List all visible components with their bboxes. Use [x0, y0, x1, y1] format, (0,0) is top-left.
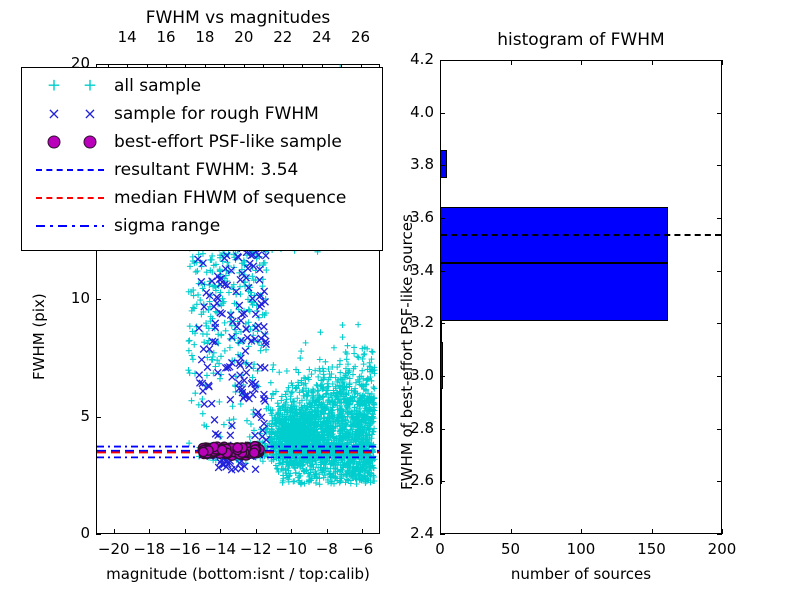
tick-mark — [717, 376, 722, 377]
right-panel-y-axis-label: FWHM of best-effort PSF-like sources — [398, 214, 416, 490]
left-panel-title: FWHM vs magnitudes — [96, 8, 380, 28]
tick-mark — [440, 323, 445, 324]
hist-x-tick-label: 150 — [630, 540, 674, 558]
tick-mark — [440, 218, 445, 219]
legend-sample-marker — [48, 136, 61, 149]
legend-marker-dashed-line-icon — [28, 156, 114, 184]
tick-mark — [717, 271, 722, 272]
legend-entry: best-effort PSF-like sample — [28, 128, 376, 156]
legend-entry-label: sample for rough FWHM — [114, 104, 319, 124]
tick-mark — [717, 165, 722, 166]
legend-line-swatch — [36, 169, 104, 171]
hist-x-tick-label: 50 — [489, 540, 533, 558]
tick-mark — [440, 534, 445, 535]
legend-marker-dashdot-line-icon — [28, 212, 114, 240]
tick-mark — [327, 529, 328, 534]
legend-entry: median FHWM of sequence — [28, 184, 376, 212]
tick-mark — [220, 529, 221, 534]
left-panel-y-axis-label: FWHM (pix) — [30, 293, 48, 380]
top-axis-tick-label: 14 — [107, 28, 147, 46]
tick-mark — [722, 60, 723, 65]
plot-legend: ++all sample××sample for rough FWHMbest-… — [21, 67, 383, 251]
tick-mark — [722, 529, 723, 534]
tick-mark — [114, 529, 115, 534]
hist-y-tick-label: 4.0 — [388, 103, 434, 121]
legend-line-swatch — [36, 225, 104, 227]
top-axis-tick-label: 24 — [302, 28, 342, 46]
tick-mark — [717, 113, 722, 114]
hist-x-tick-label: 200 — [700, 540, 744, 558]
tick-mark — [96, 417, 101, 418]
y-axis-tick-label: 0 — [46, 524, 90, 542]
tick-mark — [362, 529, 363, 534]
tick-mark — [440, 429, 445, 430]
tick-mark — [440, 481, 445, 482]
top-axis-tick-label: 26 — [341, 28, 381, 46]
legend-marker-cross-icon: ×× — [28, 100, 114, 128]
top-axis-tick-label: 22 — [263, 28, 303, 46]
tick-mark — [440, 60, 441, 65]
legend-sample-marker: + — [47, 78, 61, 95]
legend-marker-plus-icon: ++ — [28, 72, 114, 100]
hist-x-tick-label: 0 — [418, 540, 462, 558]
tick-mark — [149, 529, 150, 534]
legend-entry: ××sample for rough FWHM — [28, 100, 376, 128]
legend-entry: resultant FWHM: 3.54 — [28, 156, 376, 184]
histogram-bar — [440, 150, 447, 179]
legend-entry: ++all sample — [28, 72, 376, 100]
tick-mark — [185, 529, 186, 534]
y-axis-tick-label: 5 — [46, 407, 90, 425]
legend-entry-label: all sample — [114, 76, 201, 96]
top-axis-tick-label: 18 — [185, 28, 225, 46]
tick-mark — [440, 271, 445, 272]
resultant-fwhm-reference-line — [441, 234, 721, 236]
tick-mark — [511, 60, 512, 65]
figure-canvas: FWHM vs magnitudes 14161820222426 051020… — [0, 0, 800, 600]
histogram-bar — [440, 342, 443, 389]
tick-mark — [256, 529, 257, 534]
legend-marker-dot-icon — [28, 128, 114, 156]
tick-mark — [511, 529, 512, 534]
histogram-bar — [440, 437, 442, 484]
top-axis-tick-label: 20 — [224, 28, 264, 46]
legend-marker-dashed-line-icon — [28, 184, 114, 212]
hist-x-tick-label: 100 — [559, 540, 603, 558]
tick-mark — [440, 376, 445, 377]
right-panel-title: histogram of FWHM — [440, 30, 722, 50]
tick-mark — [652, 60, 653, 65]
tick-mark — [652, 529, 653, 534]
tick-mark — [717, 429, 722, 430]
legend-sample-marker: × — [83, 106, 96, 122]
legend-entry-label: sigma range — [114, 216, 220, 236]
tick-mark — [440, 165, 445, 166]
legend-line-swatch — [36, 197, 104, 199]
tick-mark — [96, 64, 101, 65]
legend-entry: sigma range — [28, 212, 376, 240]
tick-mark — [96, 534, 101, 535]
tick-mark — [717, 323, 722, 324]
y-axis-tick-label: 10 — [46, 289, 90, 307]
histogram-bar — [440, 263, 668, 321]
tick-mark — [581, 529, 582, 534]
tick-mark — [717, 218, 722, 219]
hist-y-tick-label: 3.8 — [388, 155, 434, 173]
left-panel-x-axis-label: magnitude (bottom:isnt / top:calib) — [96, 565, 380, 583]
tick-mark — [717, 481, 722, 482]
legend-sample-marker: + — [83, 78, 97, 95]
x-axis-tick-label: −6 — [340, 540, 384, 558]
tick-mark — [96, 299, 101, 300]
tick-mark — [717, 534, 722, 535]
right-panel-x-axis-label: number of sources — [440, 565, 722, 583]
legend-sample-marker: × — [47, 106, 60, 122]
tick-mark — [440, 113, 445, 114]
legend-entry-label: best-effort PSF-like sample — [114, 132, 342, 152]
legend-entry-label: resultant FWHM: 3.54 — [114, 160, 298, 180]
legend-entry-label: median FHWM of sequence — [114, 188, 346, 208]
tick-mark — [291, 529, 292, 534]
hist-y-tick-label: 4.2 — [388, 50, 434, 68]
legend-sample-marker — [84, 136, 97, 149]
tick-mark — [581, 60, 582, 65]
tick-mark — [440, 529, 441, 534]
top-axis-tick-label: 16 — [146, 28, 186, 46]
